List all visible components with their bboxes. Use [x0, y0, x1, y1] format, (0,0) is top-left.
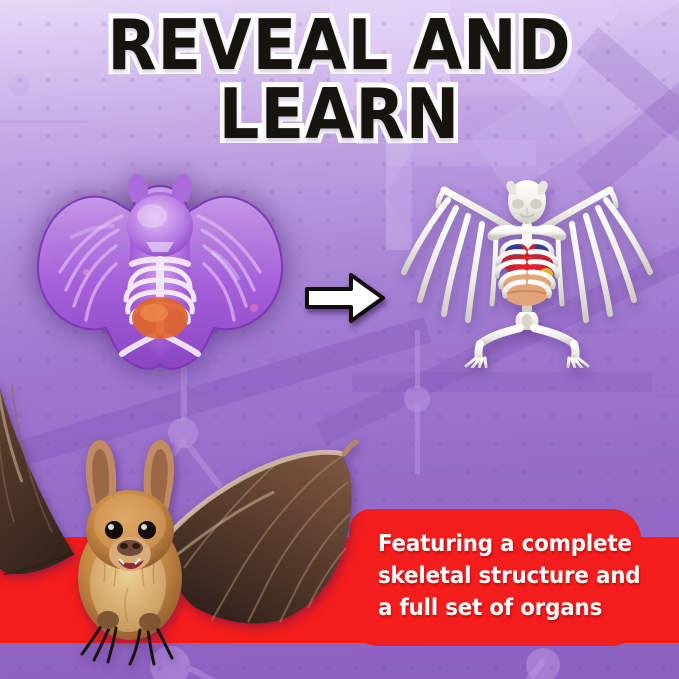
- translucent-bat-toy: [26, 168, 294, 383]
- product-image: REVEAL AND LEARN: [0, 0, 679, 679]
- flying-bat-photo: [0, 382, 370, 674]
- transformation-arrow-icon: [303, 271, 387, 325]
- callout-text: Featuring a complete skeletal structure …: [378, 528, 618, 624]
- callout-line-2: skeletal structure and: [378, 560, 618, 592]
- page-title: REVEAL AND LEARN: [0, 11, 679, 150]
- skull: [506, 180, 547, 224]
- bat-skeleton-model: [396, 180, 658, 368]
- callout-line-3: a full set of organs: [378, 592, 618, 624]
- page-title-container: REVEAL AND LEARN: [0, 18, 679, 142]
- callout-line-1: Featuring a complete: [378, 528, 618, 560]
